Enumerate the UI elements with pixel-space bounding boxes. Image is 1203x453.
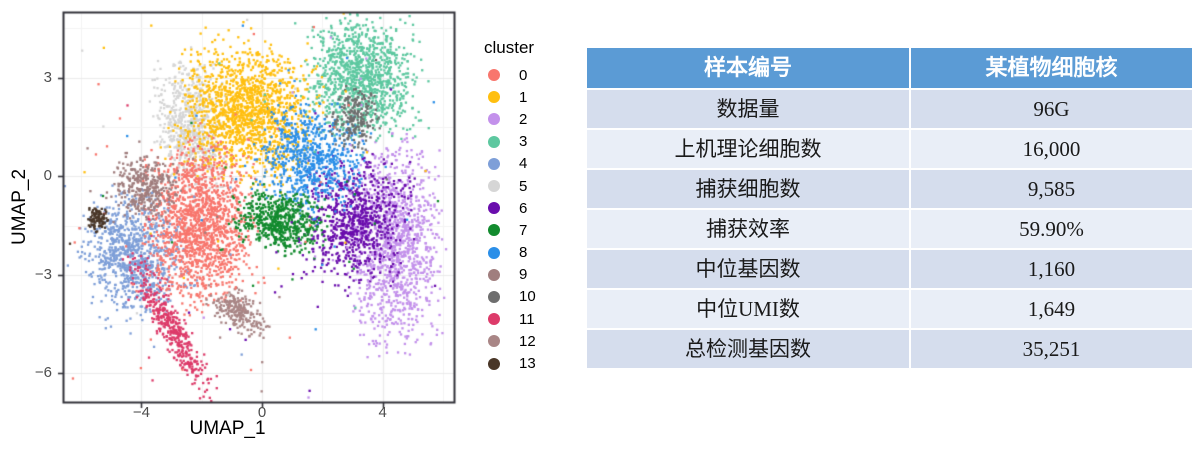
- table-row: 中位UMI数1,649: [587, 290, 1192, 328]
- table-cell-label: 捕获细胞数: [587, 170, 909, 208]
- x-axis-label: UMAP_1: [0, 418, 455, 440]
- table-cell-value: 35,251: [911, 330, 1192, 368]
- table-cell-value: 59.90%: [911, 210, 1192, 248]
- y-tick-label: −6: [18, 364, 52, 381]
- table-header-cell: 样本编号: [587, 48, 909, 88]
- table-cell-label: 总检测基因数: [587, 330, 909, 368]
- legend-item[interactable]: 0: [482, 64, 577, 86]
- legend-item-label: 13: [519, 355, 536, 372]
- legend-item-label: 3: [519, 133, 527, 150]
- legend-color-dot: [488, 313, 500, 325]
- legend-color-dot: [488, 224, 500, 236]
- legend-item-label: 11: [519, 311, 535, 328]
- table-row: 总检测基因数35,251: [587, 330, 1192, 368]
- cluster-legend: cluster 012345678910111213: [482, 38, 577, 375]
- legend-color-dot: [488, 202, 500, 214]
- legend-item-label: 4: [519, 155, 527, 172]
- legend-item[interactable]: 4: [482, 153, 577, 175]
- legend-color-dot: [488, 113, 500, 125]
- table-row: 捕获效率59.90%: [587, 210, 1192, 248]
- legend-item[interactable]: 11: [482, 308, 577, 330]
- legend-item-label: 2: [519, 111, 527, 128]
- legend-item[interactable]: 6: [482, 197, 577, 219]
- y-axis-label: UMAP_2: [9, 147, 31, 267]
- y-tick-label: 3: [18, 69, 52, 86]
- table-header-row: 样本编号 某植物细胞核: [587, 48, 1192, 88]
- legend-item-label: 10: [519, 288, 536, 305]
- legend-item-label: 7: [519, 222, 527, 239]
- x-tick-label: 0: [242, 404, 282, 421]
- legend-item-label: 8: [519, 244, 527, 261]
- legend-color-dot: [488, 69, 500, 81]
- legend-item[interactable]: 9: [482, 264, 577, 286]
- legend-item[interactable]: 8: [482, 242, 577, 264]
- table-row: 数据量96G: [587, 90, 1192, 128]
- table-cell-value: 1,649: [911, 290, 1192, 328]
- legend-color-dot: [488, 180, 500, 192]
- legend-color-dot: [488, 358, 500, 370]
- legend-item[interactable]: 7: [482, 219, 577, 241]
- table-row: 捕获细胞数9,585: [587, 170, 1192, 208]
- legend-item[interactable]: 5: [482, 175, 577, 197]
- legend-color-dot: [488, 247, 500, 259]
- legend-color-dot: [488, 335, 500, 347]
- table-cell-label: 上机理论细胞数: [587, 130, 909, 168]
- legend-item[interactable]: 3: [482, 131, 577, 153]
- x-tick-label: 4: [363, 404, 403, 421]
- x-tick-label: −4: [121, 404, 161, 421]
- table-cell-value: 9,585: [911, 170, 1192, 208]
- legend-item-label: 5: [519, 178, 527, 195]
- legend-item-label: 6: [519, 200, 527, 217]
- legend-item-label: 9: [519, 266, 527, 283]
- table-cell-label: 捕获效率: [587, 210, 909, 248]
- table-row: 上机理论细胞数16,000: [587, 130, 1192, 168]
- legend-color-dot: [488, 269, 500, 281]
- table-cell-label: 中位基因数: [587, 250, 909, 288]
- umap-scatter-plot: UMAP_1 UMAP_2 −4 0 4 3 0 −3 −6 cluster 0…: [0, 0, 575, 453]
- legend-item[interactable]: 2: [482, 108, 577, 130]
- table-cell-value: 96G: [911, 90, 1192, 128]
- table-cell-value: 16,000: [911, 130, 1192, 168]
- page-root: UMAP_1 UMAP_2 −4 0 4 3 0 −3 −6 cluster 0…: [0, 0, 1203, 453]
- legend-title: cluster: [484, 38, 577, 58]
- legend-color-dot: [488, 91, 500, 103]
- y-tick-label: 0: [18, 167, 52, 184]
- y-tick-label: −3: [18, 266, 52, 283]
- table-cell-label: 数据量: [587, 90, 909, 128]
- legend-item[interactable]: 13: [482, 352, 577, 374]
- legend-color-dot: [488, 291, 500, 303]
- table-header-cell: 某植物细胞核: [911, 48, 1192, 88]
- legend-item[interactable]: 10: [482, 286, 577, 308]
- table-cell-value: 1,160: [911, 250, 1192, 288]
- sample-info-table: 样本编号 某植物细胞核 数据量96G上机理论细胞数16,000捕获细胞数9,58…: [585, 46, 1188, 370]
- legend-color-dot: [488, 158, 500, 170]
- legend-item-label: 0: [519, 67, 527, 84]
- legend-color-dot: [488, 136, 500, 148]
- table-cell-label: 中位UMI数: [587, 290, 909, 328]
- legend-item[interactable]: 12: [482, 330, 577, 352]
- legend-item-list: 012345678910111213: [482, 64, 577, 375]
- legend-item-label: 12: [519, 333, 536, 350]
- legend-item-label: 1: [519, 89, 527, 106]
- legend-item[interactable]: 1: [482, 86, 577, 108]
- table-row: 中位基因数1,160: [587, 250, 1192, 288]
